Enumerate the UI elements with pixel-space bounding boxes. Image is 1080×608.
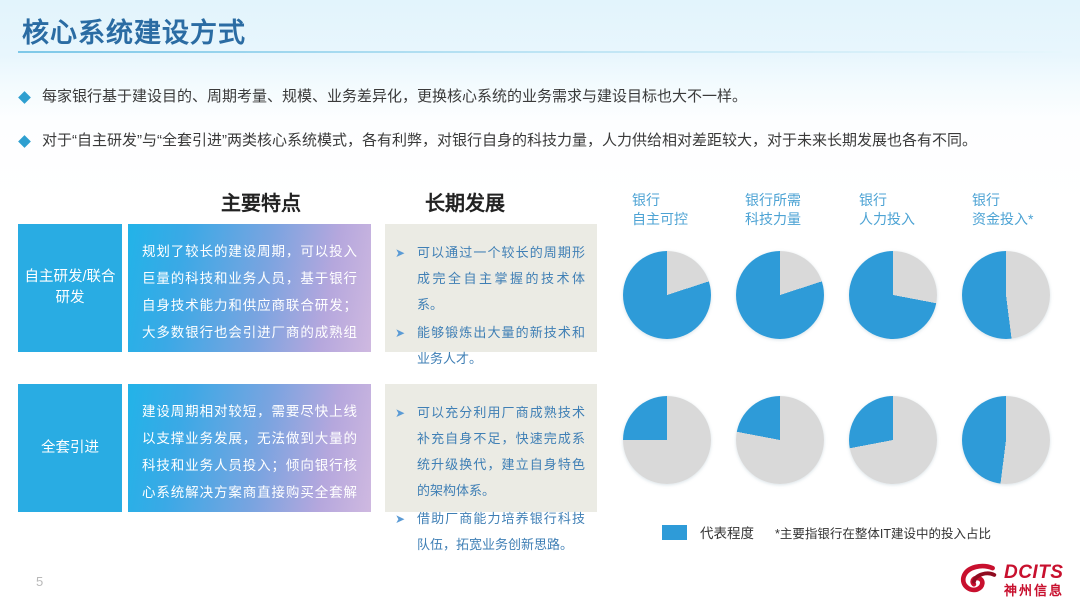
longterm-list-item: ➤ 可以通过一个较长的周期形成完全自主掌握的技术体系。 xyxy=(395,240,585,318)
longterm-list-item: ➤ 可以充分利用厂商成熟技术补充自身不足，快速完成系统升级换代，建立自身特色的架… xyxy=(395,400,585,504)
bullet-item-2: 对于“自主研发”与“全套引进”两类核心系统模式，各有利弊，对银行自身的科技力量，… xyxy=(20,131,977,151)
pie-chart xyxy=(736,251,824,339)
slide-canvas: 核心系统建设方式 每家银行基于建设目的、周期考量、规模、业务差异化，更换核心系统… xyxy=(0,0,1080,608)
longterm-text-2-1: 可以充分利用厂商成熟技术补充自身不足，快速完成系统升级换代，建立自身特色的架构体… xyxy=(417,400,585,504)
pie-column-heading-1: 银行 自主可控 xyxy=(632,191,688,229)
arrow-bullet-icon: ➤ xyxy=(395,509,408,529)
title-bar: 核心系统建设方式 xyxy=(0,0,1080,58)
column-heading-longterm: 长期发展 xyxy=(425,187,505,216)
title-divider xyxy=(18,51,1062,53)
legend-label: 代表程度 xyxy=(700,522,754,542)
mode-label-row-2: 全套引进 xyxy=(18,384,122,512)
pie-heading-3-line2: 人力投入 xyxy=(859,210,915,229)
pie-chart xyxy=(962,251,1050,339)
bullet-item-1: 每家银行基于建设目的、周期考量、规模、业务差异化，更换核心系统的业务需求与建设目… xyxy=(20,87,747,107)
longterm-list-item: ➤ 借助厂商能力培养银行科技队伍，拓宽业务创新思路。 xyxy=(395,506,585,558)
pie-column-heading-3: 银行 人力投入 xyxy=(859,191,915,229)
pie-column-heading-2: 银行所需 科技力量 xyxy=(745,191,801,229)
company-logo: DCITS 神州信息 xyxy=(960,563,1064,597)
pie-chart xyxy=(623,396,711,484)
pie-heading-2-line1: 银行所需 xyxy=(745,191,801,210)
chart-legend: 代表程度 xyxy=(662,522,754,542)
pie-heading-4-line1: 银行 xyxy=(972,191,1033,210)
pie-chart xyxy=(962,396,1050,484)
page-title: 核心系统建设方式 xyxy=(22,11,246,50)
longterm-card-row-1: ➤ 可以通过一个较长的周期形成完全自主掌握的技术体系。 ➤ 能够锻炼出大量的新技… xyxy=(385,224,597,352)
logo-cn-text: 神州信息 xyxy=(1004,584,1064,597)
longterm-list-item: ➤ 能够锻炼出大量的新技术和业务人才。 xyxy=(395,320,585,372)
column-heading-features: 主要特点 xyxy=(221,187,301,216)
mode-label-row-1: 自主研发/联合研发 xyxy=(18,224,122,352)
arrow-bullet-icon: ➤ xyxy=(395,243,408,263)
longterm-text-1-2: 能够锻炼出大量的新技术和业务人才。 xyxy=(417,320,585,372)
bullet-text-2: 对于“自主研发”与“全套引进”两类核心系统模式，各有利弊，对银行自身的科技力量，… xyxy=(42,131,977,151)
pie-heading-2-line2: 科技力量 xyxy=(745,210,801,229)
longterm-card-row-2: ➤ 可以充分利用厂商成熟技术补充自身不足，快速完成系统升级换代，建立自身特色的架… xyxy=(385,384,597,512)
arrow-bullet-icon: ➤ xyxy=(395,403,408,423)
logo-wordmark: DCITS 神州信息 xyxy=(1004,563,1064,597)
page-number: 5 xyxy=(36,574,43,589)
diamond-bullet-icon xyxy=(18,91,31,104)
logo-en-text: DCITS xyxy=(1004,563,1064,582)
chart-footnote: *主要指银行在整体IT建设中的投入占比 xyxy=(775,523,991,542)
pie-heading-1-line1: 银行 xyxy=(632,191,688,210)
pie-chart xyxy=(849,251,937,339)
pie-heading-1-line2: 自主可控 xyxy=(632,210,688,229)
diamond-bullet-icon xyxy=(18,135,31,148)
pie-chart xyxy=(623,251,711,339)
arrow-bullet-icon: ➤ xyxy=(395,323,408,343)
pie-heading-4-line2: 资金投入* xyxy=(972,210,1033,229)
pie-column-heading-4: 银行 资金投入* xyxy=(972,191,1033,229)
pie-chart xyxy=(736,396,824,484)
pie-heading-3-line1: 银行 xyxy=(859,191,915,210)
legend-color-swatch xyxy=(662,525,687,540)
dcits-swirl-icon xyxy=(960,563,998,597)
feature-card-row-1: 规划了较长的建设周期，可以投入巨量的科技和业务人员，基于银行自身技术能力和供应商… xyxy=(128,224,371,352)
pie-chart xyxy=(849,396,937,484)
bullet-text-1: 每家银行基于建设目的、周期考量、规模、业务差异化，更换核心系统的业务需求与建设目… xyxy=(42,87,747,107)
longterm-text-2-2: 借助厂商能力培养银行科技队伍，拓宽业务创新思路。 xyxy=(417,506,585,558)
longterm-text-1-1: 可以通过一个较长的周期形成完全自主掌握的技术体系。 xyxy=(417,240,585,318)
feature-card-row-2: 建设周期相对较短，需要尽快上线以支撑业务发展，无法做到大量的科技和业务人员投入；… xyxy=(128,384,371,512)
